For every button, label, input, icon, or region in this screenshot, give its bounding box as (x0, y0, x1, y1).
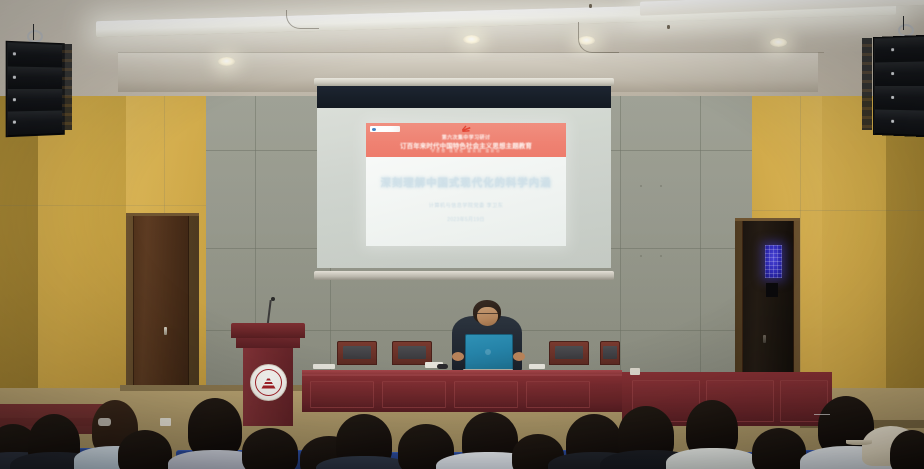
projector-screen: 第六次集中学习研讨 订百年来时代中国特色社会主义思想主题教育 学思想 强党性 重… (314, 78, 614, 280)
ceiling-cable (578, 22, 619, 53)
downlight-4 (770, 38, 787, 47)
left-door-handle[interactable] (164, 327, 167, 335)
speaker-array-left (6, 41, 65, 138)
projected-slide: 第六次集中学习研讨 订百年来时代中国特色社会主义思想主题教育 学思想 强党性 重… (366, 123, 566, 246)
desk-object-mouse (437, 364, 448, 369)
table-front-panel (382, 381, 446, 408)
speaker-person-glasses (477, 313, 498, 317)
audience-shoulders (666, 448, 760, 469)
slide-header-line3: 学思想 强党性 重实践 建新功 (366, 149, 566, 154)
organization-logo-icon (370, 126, 400, 132)
podium-emblem-mark (261, 376, 275, 388)
audience-head (752, 428, 806, 469)
speaker-led (891, 120, 894, 123)
speaker-side-bracket-right (862, 38, 872, 130)
speaker-led (13, 52, 16, 55)
table-front-panel (526, 381, 590, 408)
paper-sheet (313, 364, 335, 369)
wall-seam (700, 60, 701, 390)
right-door-handle[interactable] (763, 335, 766, 343)
speaker-module (875, 61, 924, 87)
slide-title: 深刻理解中国式现代化的科学内涵 (366, 175, 566, 190)
blue-led-panel-icon (765, 245, 782, 278)
podium-emblem-inner (255, 369, 282, 396)
speaker-led (891, 96, 894, 99)
table-front-panel (454, 381, 518, 408)
speaker-module (8, 110, 63, 136)
speaker-module (875, 109, 924, 136)
podium-emblem-icon (250, 364, 287, 401)
eyeglasses-icon (814, 414, 830, 415)
wall-outlet (160, 418, 171, 426)
audience-hair-tie (98, 418, 111, 426)
speaker-array-right (873, 35, 924, 137)
chair-4[interactable] (600, 341, 620, 365)
speaker-led (891, 48, 894, 51)
wall-bolt (640, 185, 642, 187)
speaker-side-bracket-left (62, 44, 72, 130)
slide-header-banner: 第六次集中学习研讨 订百年来时代中国特色社会主义思想主题教育 学思想 强党性 重… (366, 123, 566, 157)
speaker-led (891, 72, 894, 75)
audience-head (242, 428, 298, 469)
speaker-module (875, 86, 924, 112)
cap-brim-icon (846, 440, 872, 445)
slide-date: 2023年5月19日 (366, 216, 566, 223)
chair-1[interactable] (337, 341, 377, 365)
party-emblem-icon (461, 124, 472, 133)
screen-bottom-bar (314, 271, 614, 280)
speaker-person-hand-left (452, 352, 464, 361)
laptop-logo-icon (485, 349, 491, 355)
speaker-rigging-right (903, 16, 904, 30)
speaker-module (8, 66, 63, 90)
speaker-person-hand-right (513, 352, 525, 361)
podium-top (231, 323, 305, 338)
right-door-dark-object (766, 283, 778, 297)
speaker-rigging-left (33, 24, 34, 40)
speaker-module (8, 43, 63, 69)
speaker-module (875, 37, 924, 64)
lecture-hall-photo: 第六次集中学习研讨 订百年来时代中国特色社会主义思想主题教育 学思想 强党性 重… (0, 0, 924, 469)
downlight-1 (218, 57, 235, 66)
slide-presenter: 计算机与信息学院党委 李卫东 (366, 202, 566, 209)
screen-roller-housing (314, 78, 614, 86)
wall-bolt (660, 255, 662, 257)
downlight-2 (463, 35, 480, 44)
screen-top-band (317, 86, 611, 108)
wall-bolt (640, 255, 642, 257)
wall-bolt (660, 185, 662, 187)
ceiling-fixture-dot (589, 4, 592, 8)
ceiling-seam (118, 52, 824, 53)
ceiling-cable (286, 10, 319, 29)
table-front-panel (310, 381, 374, 408)
podium-microphone-head (271, 297, 275, 301)
yellow-wall-seam (0, 205, 206, 206)
speaker-led (13, 76, 16, 79)
chair-3[interactable] (549, 341, 589, 365)
podium-shoulder (236, 338, 300, 348)
paper-sheet (529, 364, 545, 369)
speaker-led (13, 121, 16, 124)
ceiling-fixture-dot (667, 25, 670, 29)
wall-outlet (630, 368, 640, 375)
speaker-module (8, 89, 63, 113)
speaker-led (13, 98, 16, 101)
yellow-wall-seam (752, 210, 924, 211)
wall-seam (620, 60, 621, 390)
audience-head (188, 398, 242, 458)
